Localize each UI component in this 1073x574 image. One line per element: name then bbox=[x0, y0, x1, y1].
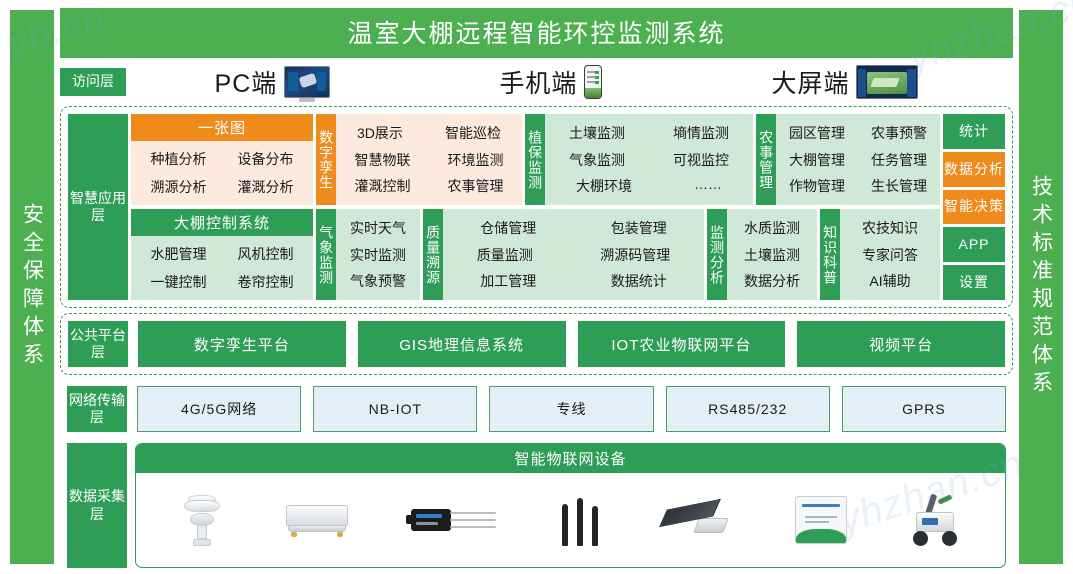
data-layer-panel: 智能物联网设备 bbox=[135, 443, 1006, 568]
inspection-robot-icon bbox=[910, 494, 960, 546]
weather-station-icon bbox=[181, 494, 223, 546]
platform-layer-items: 数字孪生平台 GIS地理信息系统 IOT农业物联网平台 视频平台 bbox=[138, 321, 1005, 367]
platform-layer-tag: 公共平台层 bbox=[68, 321, 128, 367]
application-layer-grid: 一张图 种植分析 设备分布 溯源分析 灌溉分析 bbox=[131, 114, 940, 300]
module-line: 土壤监测 bbox=[732, 245, 812, 265]
module-farm-management-strip: 农事管理 bbox=[756, 114, 776, 205]
module-line: 溯源分析 灌溉分析 bbox=[135, 177, 309, 197]
module-weather-monitoring-strip: 气象监测 bbox=[316, 209, 336, 300]
module-item[interactable]: 灌溉分析 bbox=[238, 177, 294, 197]
module-weather-monitoring-label: 气象监测 bbox=[319, 225, 333, 285]
module-item[interactable]: 溯源码管理 bbox=[600, 245, 670, 265]
module-line: 气象预警 bbox=[341, 271, 415, 291]
module-quality-traceability-strip: 质量溯源 bbox=[423, 209, 443, 300]
module-line: 3D展示 智能巡检 bbox=[341, 123, 517, 143]
gateway-box-icon bbox=[286, 503, 348, 537]
module-weather-monitoring-body: 实时天气 实时监测 气象预警 bbox=[336, 209, 420, 300]
module-line: 数据分析 bbox=[732, 271, 812, 291]
module-item[interactable]: 专家问答 bbox=[862, 245, 918, 265]
platform-item-digital-twin[interactable]: 数字孪生平台 bbox=[138, 321, 346, 367]
module-plant-protection[interactable]: 植保监测 土壤监测 墒情监测 气象监测 可视监控 bbox=[525, 114, 753, 205]
module-item[interactable]: 质量监测 bbox=[477, 245, 533, 265]
application-chip-column: 统计 数据分析 智能决策 APP 设置 bbox=[943, 114, 1005, 300]
network-layer-tag: 网络传输层 bbox=[67, 386, 127, 432]
module-item[interactable]: 实时监测 bbox=[350, 245, 406, 265]
left-side-band-label: 安全保障体系 bbox=[22, 203, 43, 371]
chip-data-analysis[interactable]: 数据分析 bbox=[943, 152, 1005, 187]
monitor-icon bbox=[284, 66, 330, 98]
module-greenhouse-control[interactable]: 大棚控制系统 水肥管理 风机控制 一键控制 卷帘控制 bbox=[131, 209, 313, 300]
module-item[interactable]: 智能巡检 bbox=[445, 123, 501, 143]
module-item[interactable]: 环境监测 bbox=[448, 150, 504, 170]
module-item-ellipsis: …… bbox=[694, 176, 722, 196]
network-layer: 网络传输层 4G/5G网络 NB-IOT 专线 RS485/232 GPRS bbox=[60, 386, 1013, 432]
module-item[interactable]: 数据分析 bbox=[744, 271, 800, 291]
platform-item-iot[interactable]: IOT农业物联网平台 bbox=[578, 321, 786, 367]
module-monitoring-analysis-strip: 监测分析 bbox=[707, 209, 727, 300]
data-layer-panel-header: 智能物联网设备 bbox=[136, 444, 1005, 473]
soil-sensor-icon bbox=[411, 505, 497, 535]
module-item[interactable]: 农事管理 bbox=[448, 176, 504, 196]
module-item[interactable]: 加工管理 bbox=[480, 271, 536, 291]
module-knowledge-science-label: 知识科普 bbox=[823, 225, 837, 285]
chip-app[interactable]: APP bbox=[943, 227, 1005, 262]
module-item[interactable]: 大棚管理 bbox=[789, 150, 845, 170]
application-row-2: 大棚控制系统 水肥管理 风机控制 一键控制 卷帘控制 bbox=[131, 209, 940, 300]
module-item[interactable]: 种植分析 bbox=[151, 149, 207, 169]
chip-statistics[interactable]: 统计 bbox=[943, 114, 1005, 149]
access-item-label: 手机端 bbox=[499, 64, 577, 100]
module-digital-twin[interactable]: 数字孪生 3D展示 智能巡检 智慧物联 环境监测 bbox=[316, 114, 522, 205]
platform-layer-group: 公共平台层 数字孪生平台 GIS地理信息系统 IOT农业物联网平台 视频平台 bbox=[60, 313, 1013, 375]
data-layer-devices bbox=[136, 473, 1005, 567]
module-line: 实时天气 bbox=[341, 218, 415, 238]
network-item-4g5g[interactable]: 4G/5G网络 bbox=[137, 386, 301, 432]
module-line: 加工管理 数据统计 bbox=[448, 271, 699, 291]
application-row-1: 一张图 种植分析 设备分布 溯源分析 灌溉分析 bbox=[131, 114, 940, 205]
module-one-map-header: 一张图 bbox=[131, 114, 313, 141]
module-line: 质量监测 溯源码管理 bbox=[448, 245, 699, 265]
module-line: 气象监测 可视监控 bbox=[550, 150, 748, 170]
module-line: 灌溉控制 农事管理 bbox=[341, 176, 517, 196]
chip-smart-decision[interactable]: 智能决策 bbox=[943, 190, 1005, 225]
left-side-band: 安全保障体系 bbox=[10, 10, 54, 564]
module-item[interactable]: 水肥管理 bbox=[151, 244, 207, 264]
phone-icon bbox=[584, 65, 602, 99]
solar-panel-icon bbox=[666, 500, 732, 540]
module-one-map-body: 种植分析 设备分布 溯源分析 灌溉分析 bbox=[131, 141, 313, 205]
application-layer-group: 智慧应用层 一张图 种植分析 设备分布 bbox=[60, 106, 1013, 308]
module-monitoring-analysis-label: 监测分析 bbox=[710, 225, 724, 285]
module-line: 大棚环境 …… bbox=[550, 176, 748, 196]
application-layer: 智慧应用层 一张图 种植分析 设备分布 bbox=[68, 114, 1005, 300]
module-item[interactable]: 园区管理 bbox=[789, 123, 845, 143]
bigscreen-icon bbox=[856, 65, 918, 99]
network-item-rs485[interactable]: RS485/232 bbox=[666, 386, 830, 432]
module-knowledge-science-strip: 知识科普 bbox=[820, 209, 840, 300]
module-farm-management[interactable]: 农事管理 园区管理 农事预警 大棚管理 任务管理 bbox=[756, 114, 940, 205]
module-item[interactable]: 生长管理 bbox=[871, 176, 927, 196]
module-line: 土壤监测 墒情监测 bbox=[550, 123, 748, 143]
module-item[interactable]: 可视监控 bbox=[673, 150, 729, 170]
module-weather-monitoring[interactable]: 气象监测 实时天气 实时监测 气象预警 bbox=[316, 209, 420, 300]
module-monitoring-analysis[interactable]: 监测分析 水质监测 土壤监测 数据分析 bbox=[707, 209, 817, 300]
module-greenhouse-control-body: 水肥管理 风机控制 一键控制 卷帘控制 bbox=[131, 236, 313, 300]
module-line: 农技知识 bbox=[845, 218, 935, 238]
module-greenhouse-control-header: 大棚控制系统 bbox=[131, 209, 313, 236]
module-item[interactable]: 灌溉控制 bbox=[355, 176, 411, 196]
access-layer-tag: 访问层 bbox=[60, 68, 126, 96]
module-item[interactable]: 卷帘控制 bbox=[238, 272, 294, 292]
module-item[interactable]: 3D展示 bbox=[357, 123, 403, 143]
module-line: 实时监测 bbox=[341, 245, 415, 265]
data-layer-wrap: 数据采集层 智能物联网设备 bbox=[60, 443, 1013, 568]
module-quality-traceability-body: 仓储管理 包装管理 质量监测 溯源码管理 加工管理 数据统计 bbox=[443, 209, 704, 300]
module-item[interactable]: AI辅助 bbox=[869, 271, 910, 291]
access-layer-row: 访问层 PC端 手机端 大屏端 bbox=[60, 60, 1013, 104]
network-item-gprs[interactable]: GPRS bbox=[842, 386, 1006, 432]
network-layer-items: 4G/5G网络 NB-IOT 专线 RS485/232 GPRS bbox=[137, 386, 1006, 432]
access-layer-items: PC端 手机端 大屏端 bbox=[126, 64, 1013, 100]
platform-item-gis[interactable]: GIS地理信息系统 bbox=[358, 321, 566, 367]
module-line: 专家问答 bbox=[845, 245, 935, 265]
module-item[interactable]: 设备分布 bbox=[238, 149, 294, 169]
module-item[interactable]: 土壤监测 bbox=[744, 245, 800, 265]
access-item-pc[interactable]: PC端 bbox=[215, 64, 331, 100]
module-knowledge-science-body: 农技知识 专家问答 AI辅助 bbox=[840, 209, 940, 300]
module-line: 一键控制 卷帘控制 bbox=[135, 272, 309, 292]
module-line: 水肥管理 风机控制 bbox=[135, 244, 309, 264]
module-line: 大棚管理 任务管理 bbox=[781, 150, 935, 170]
module-farm-management-body: 园区管理 农事预警 大棚管理 任务管理 作物管理 生长管理 bbox=[776, 114, 940, 205]
access-item-bigscreen[interactable]: 大屏端 bbox=[771, 64, 918, 100]
module-item[interactable]: 数据统计 bbox=[611, 271, 667, 291]
module-item[interactable]: 智慧物联 bbox=[355, 150, 411, 170]
module-monitoring-analysis-body: 水质监测 土壤监测 数据分析 bbox=[727, 209, 817, 300]
module-item[interactable]: 任务管理 bbox=[871, 150, 927, 170]
diagram-center-column: 温室大棚远程智能环控监测系统 访问层 PC端 手机端 bbox=[54, 0, 1019, 574]
module-digital-twin-strip: 数字孪生 bbox=[316, 114, 336, 205]
module-line: 水质监测 bbox=[732, 218, 812, 238]
module-line: 园区管理 农事预警 bbox=[781, 123, 935, 143]
page-title: 温室大棚远程智能环控监测系统 bbox=[60, 8, 1013, 58]
module-item[interactable]: 土壤监测 bbox=[569, 123, 625, 143]
module-item[interactable]: 仓储管理 bbox=[480, 218, 536, 238]
module-item[interactable]: 墒情监测 bbox=[673, 123, 729, 143]
module-item[interactable]: 农事预警 bbox=[871, 123, 927, 143]
module-digital-twin-label: 数字孪生 bbox=[319, 130, 333, 190]
data-layer-tag: 数据采集层 bbox=[67, 443, 127, 568]
module-item[interactable]: 实时天气 bbox=[350, 218, 406, 238]
module-item[interactable]: 作物管理 bbox=[789, 176, 845, 196]
module-item[interactable]: 水质监测 bbox=[744, 218, 800, 238]
module-line: 仓储管理 包装管理 bbox=[448, 218, 699, 238]
data-layer: 数据采集层 智能物联网设备 bbox=[67, 443, 1006, 568]
module-plant-protection-body: 土壤监测 墒情监测 气象监测 可视监控 大棚环境 …… bbox=[545, 114, 753, 205]
right-side-band-label: 技术标准规范体系 bbox=[1031, 175, 1052, 399]
module-quality-traceability-label: 质量溯源 bbox=[426, 225, 440, 285]
architecture-diagram: yb.cn yhzhan.cn yhzhan.cn 安全保障体系 温室大棚远程智… bbox=[0, 0, 1073, 574]
module-item[interactable]: 气象预警 bbox=[350, 271, 406, 291]
right-side-band: 技术标准规范体系 bbox=[1019, 10, 1063, 564]
module-knowledge-science[interactable]: 知识科普 农技知识 专家问答 AI辅助 bbox=[820, 209, 940, 300]
module-line: 种植分析 设备分布 bbox=[135, 149, 309, 169]
module-farm-management-label: 农事管理 bbox=[759, 130, 773, 190]
access-item-label: PC端 bbox=[215, 64, 278, 100]
module-item[interactable]: 风机控制 bbox=[238, 244, 294, 264]
network-item-nbiot[interactable]: NB-IOT bbox=[313, 386, 477, 432]
module-line: AI辅助 bbox=[845, 271, 935, 291]
module-plant-protection-strip: 植保监测 bbox=[525, 114, 545, 205]
access-item-label: 大屏端 bbox=[771, 64, 849, 100]
antenna-icon bbox=[559, 494, 603, 546]
module-item[interactable]: 溯源分析 bbox=[151, 177, 207, 197]
module-line: 智慧物联 环境监测 bbox=[341, 150, 517, 170]
platform-layer: 公共平台层 数字孪生平台 GIS地理信息系统 IOT农业物联网平台 视频平台 bbox=[68, 321, 1005, 367]
chip-settings[interactable]: 设置 bbox=[943, 265, 1005, 300]
module-quality-traceability[interactable]: 质量溯源 仓储管理 包装管理 质量监测 溯源码管理 bbox=[423, 209, 704, 300]
monitoring-cabinet-icon bbox=[795, 496, 847, 544]
module-plant-protection-label: 植保监测 bbox=[528, 130, 542, 190]
module-item[interactable]: 气象监测 bbox=[569, 150, 625, 170]
module-item[interactable]: 农技知识 bbox=[862, 218, 918, 238]
platform-item-video[interactable]: 视频平台 bbox=[797, 321, 1005, 367]
access-item-mobile[interactable]: 手机端 bbox=[499, 64, 602, 100]
network-item-leased[interactable]: 专线 bbox=[489, 386, 653, 432]
module-item[interactable]: 包装管理 bbox=[611, 218, 667, 238]
module-one-map[interactable]: 一张图 种植分析 设备分布 溯源分析 灌溉分析 bbox=[131, 114, 313, 205]
module-line: 作物管理 生长管理 bbox=[781, 176, 935, 196]
application-layer-tag: 智慧应用层 bbox=[68, 114, 128, 300]
module-digital-twin-body: 3D展示 智能巡检 智慧物联 环境监测 灌溉控制 农事管理 bbox=[336, 114, 522, 205]
module-item[interactable]: 大棚环境 bbox=[576, 176, 632, 196]
module-item[interactable]: 一键控制 bbox=[151, 272, 207, 292]
